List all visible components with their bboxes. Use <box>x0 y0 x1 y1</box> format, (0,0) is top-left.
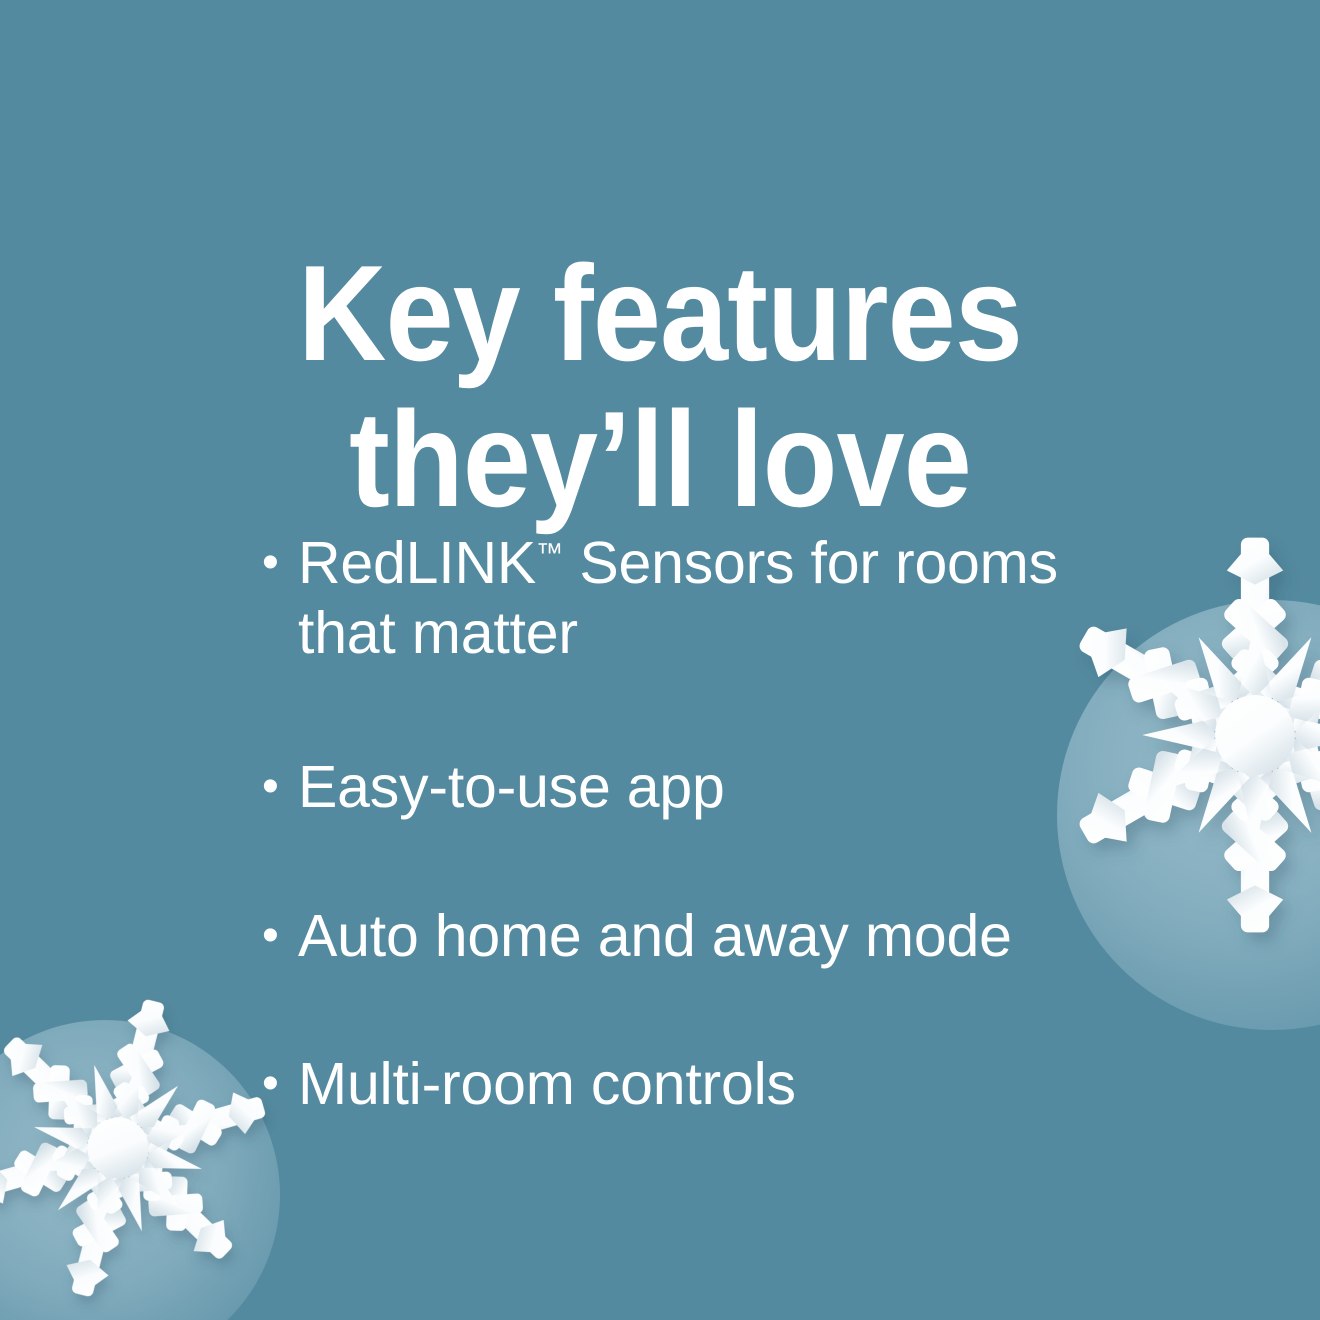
snowflake-bottom-left-icon <box>0 968 298 1320</box>
bullet-dot-icon: • <box>262 901 298 971</box>
list-item-label: Easy-to-use app <box>298 752 1122 822</box>
list-item: • RedLINK™ Sensors for rooms that matter <box>262 528 1122 668</box>
bullet-dot-icon: • <box>262 752 298 822</box>
list-item-label: RedLINK™ Sensors for rooms that matter <box>298 528 1122 668</box>
trademark-icon: ™ <box>536 537 563 568</box>
list-item: • Multi-room controls <box>262 1049 1122 1119</box>
feature-list: • RedLINK™ Sensors for rooms that matter… <box>262 528 1122 1119</box>
page-title: Key features they’ll love <box>66 241 1254 532</box>
list-item-label-text: RedLINK <box>298 530 536 596</box>
list-item-label: Multi-room controls <box>298 1049 1122 1119</box>
list-item: • Auto home and away mode <box>262 901 1122 971</box>
bullet-dot-icon: • <box>262 528 298 598</box>
list-item: • Easy-to-use app <box>262 752 1122 822</box>
list-item-label: Auto home and away mode <box>298 901 1122 971</box>
page-title-line-1: Key features <box>66 241 1254 387</box>
page-title-line-2: they’ll love <box>66 387 1254 533</box>
promo-card: Key features they’ll love • RedLINK™ Sen… <box>0 0 1320 1320</box>
bullet-dot-icon: • <box>262 1049 298 1119</box>
glow-circle-bottom-left <box>0 1020 280 1320</box>
